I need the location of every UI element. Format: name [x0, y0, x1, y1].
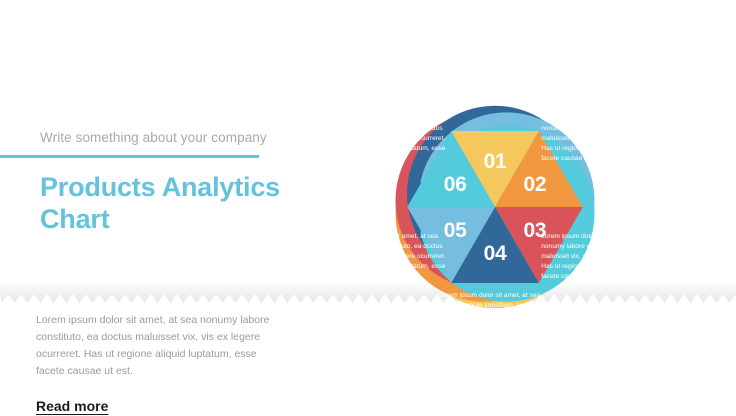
kicker-text: Write something about your company [40, 128, 290, 147]
segment-number-06: 06 [444, 173, 467, 196]
slide-canvas: Write something about your company Produ… [0, 0, 736, 414]
accent-rule [0, 155, 259, 158]
petal-text-01: Lorem ipsum dolor sit amet, at sea nonum… [439, 55, 551, 105]
petal-text-04: Lorem ipsum dolor sit amet, at sea nonum… [439, 291, 551, 341]
segment-number-01: 01 [484, 150, 507, 173]
page-title: Products Analytics Chart [40, 172, 290, 235]
body-paragraph: Lorem ipsum dolor sit amet, at sea nonum… [36, 312, 288, 380]
petal-text-03: Lorem ipsum dolor sit amet, at sea nonum… [541, 232, 653, 282]
read-more-link[interactable]: Read more [36, 398, 108, 414]
segment-number-04: 04 [484, 242, 507, 265]
petal-text-05: Lorem ipsum dolor sit amet, at sea nonum… [337, 232, 449, 282]
petal-text-02: Lorem ipsum dolor sit amet, at sea nonum… [541, 114, 653, 164]
segment-number-02: 02 [523, 173, 546, 196]
petal-chart: 010203040506 Lorem ipsum dolor sit amet,… [287, 0, 717, 414]
heading-block: Write something about your company Produ… [40, 128, 290, 235]
petal-text-06: Lorem ipsum dolor sit amet, at sea nonum… [337, 114, 449, 164]
body-block: Lorem ipsum dolor sit amet, at sea nonum… [36, 312, 288, 416]
